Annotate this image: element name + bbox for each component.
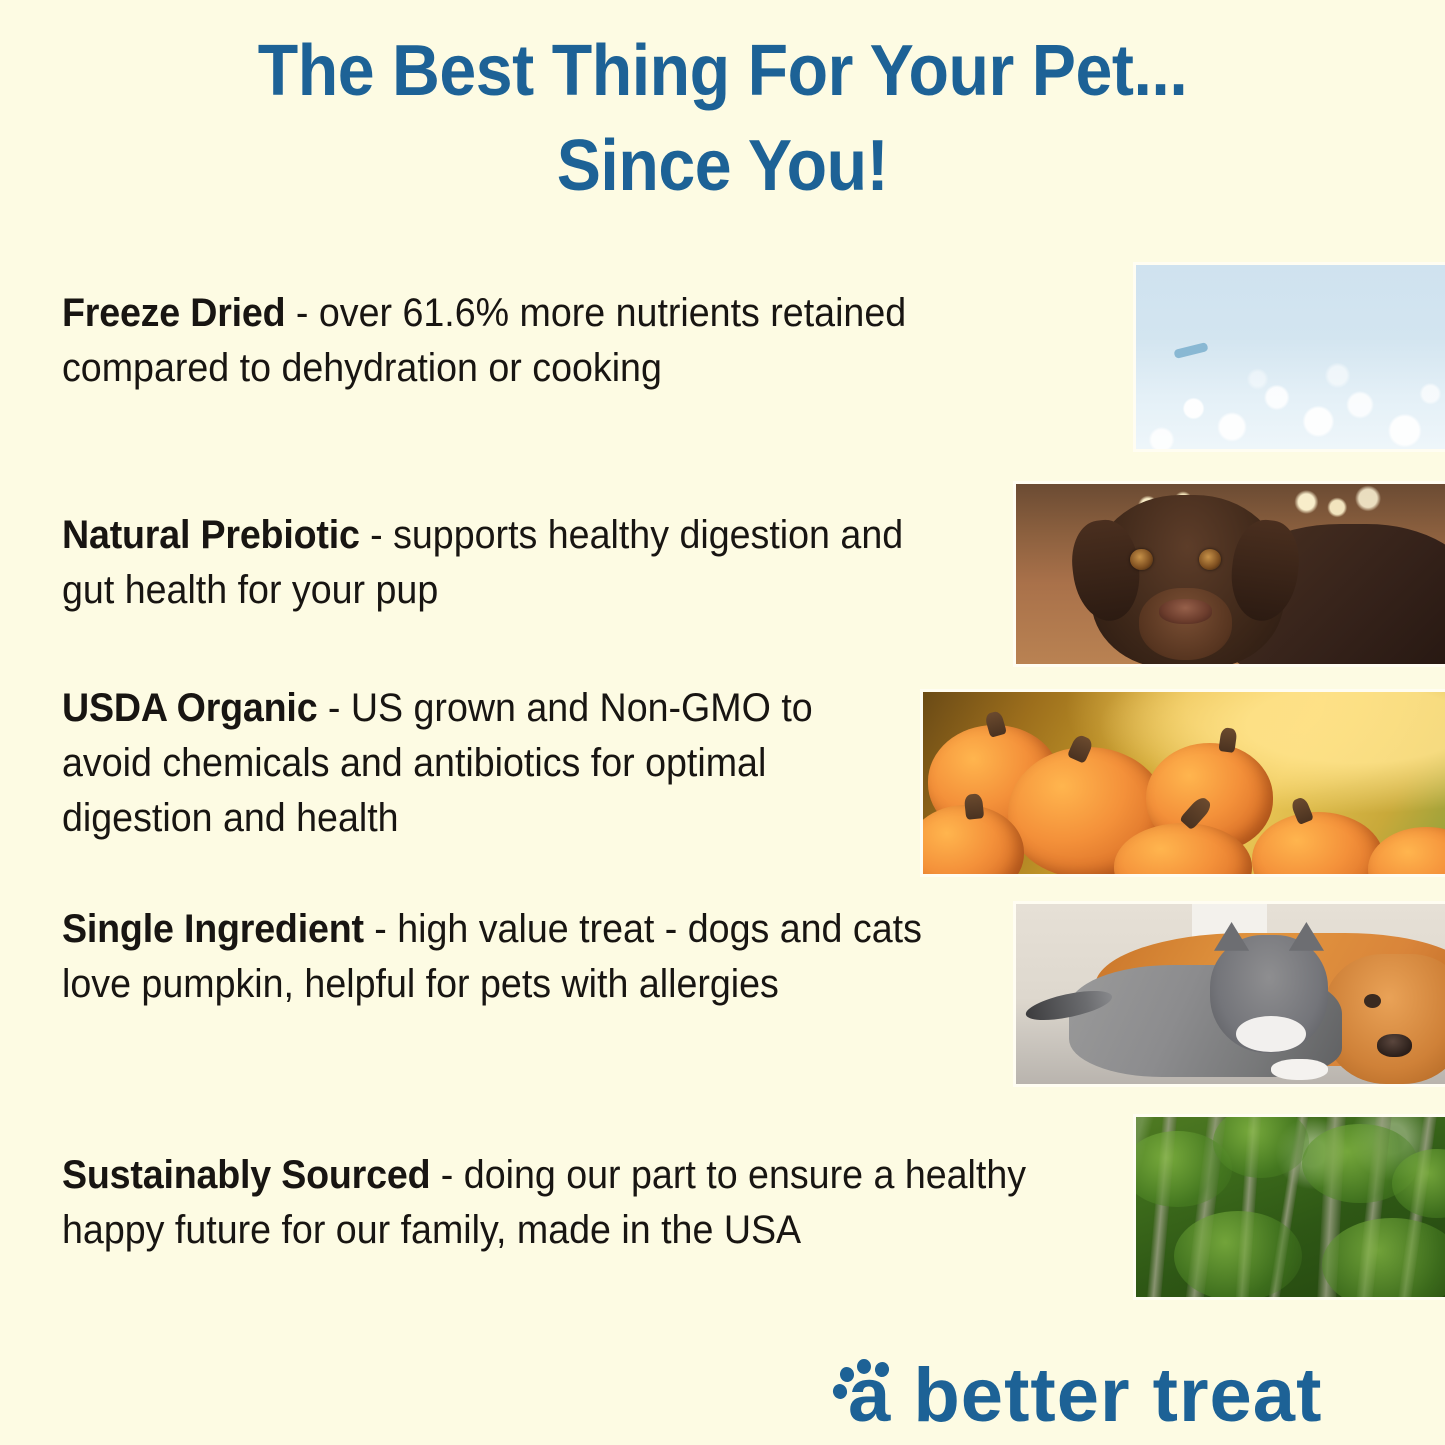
feature-item-single-ingredient: Single Ingredient - high value treat - d… [62,902,964,1012]
chocolate-labrador-dog-photo [1016,484,1445,664]
golden-retriever-nose [1377,1034,1412,1057]
pumpkin-7 [1368,827,1445,874]
pumpkin-6 [1252,812,1385,874]
page-title-line-2: Since You! [58,119,1387,214]
feature-lead-sustainably-sourced: Sustainably Sourced [62,1153,430,1197]
dog-nose [1159,599,1212,624]
feature-item-usda-organic: USDA Organic - US grown and Non-GMO to a… [62,681,908,847]
cat-and-golden-retriever-photo [1016,904,1445,1084]
feature-lead-usda-organic: USDA Organic [62,686,317,730]
pumpkin-stem-3 [1218,727,1237,753]
pumpkins-harvest-photo [923,692,1445,874]
ice-shard-detail [1174,342,1209,359]
infographic-page: The Best Thing For Your Pet... Since You… [0,0,1445,1445]
feature-item-sustainably-sourced: Sustainably Sourced - doing our part to … [62,1148,1058,1258]
feature-lead-freeze-dried: Freeze Dried [62,291,285,335]
paw-bean-1 [831,1382,849,1401]
page-title-line-1: The Best Thing For Your Pet... [58,24,1387,119]
golden-retriever-head [1324,954,1445,1084]
feature-item-freeze-dried: Freeze Dried - over 61.6% more nutrients… [62,286,1011,396]
green-forest-trees-photo [1136,1117,1445,1297]
foliage-4 [1174,1211,1302,1297]
feature-item-natural-prebiotic: Natural Prebiotic - supports healthy dig… [62,508,955,618]
brand-logo-text: a better treat [848,1352,1322,1440]
feature-lead-natural-prebiotic: Natural Prebiotic [62,513,360,557]
gray-cat-chin [1236,1016,1306,1052]
frost-ice-crystals-photo [1136,265,1445,449]
gray-cat-paw [1271,1059,1328,1081]
foliage-5 [1322,1218,1445,1297]
page-title: The Best Thing For Your Pet... Since You… [58,24,1387,214]
feature-lead-single-ingredient: Single Ingredient [62,907,364,951]
brand-logo[interactable]: a better treat [830,1352,1430,1440]
